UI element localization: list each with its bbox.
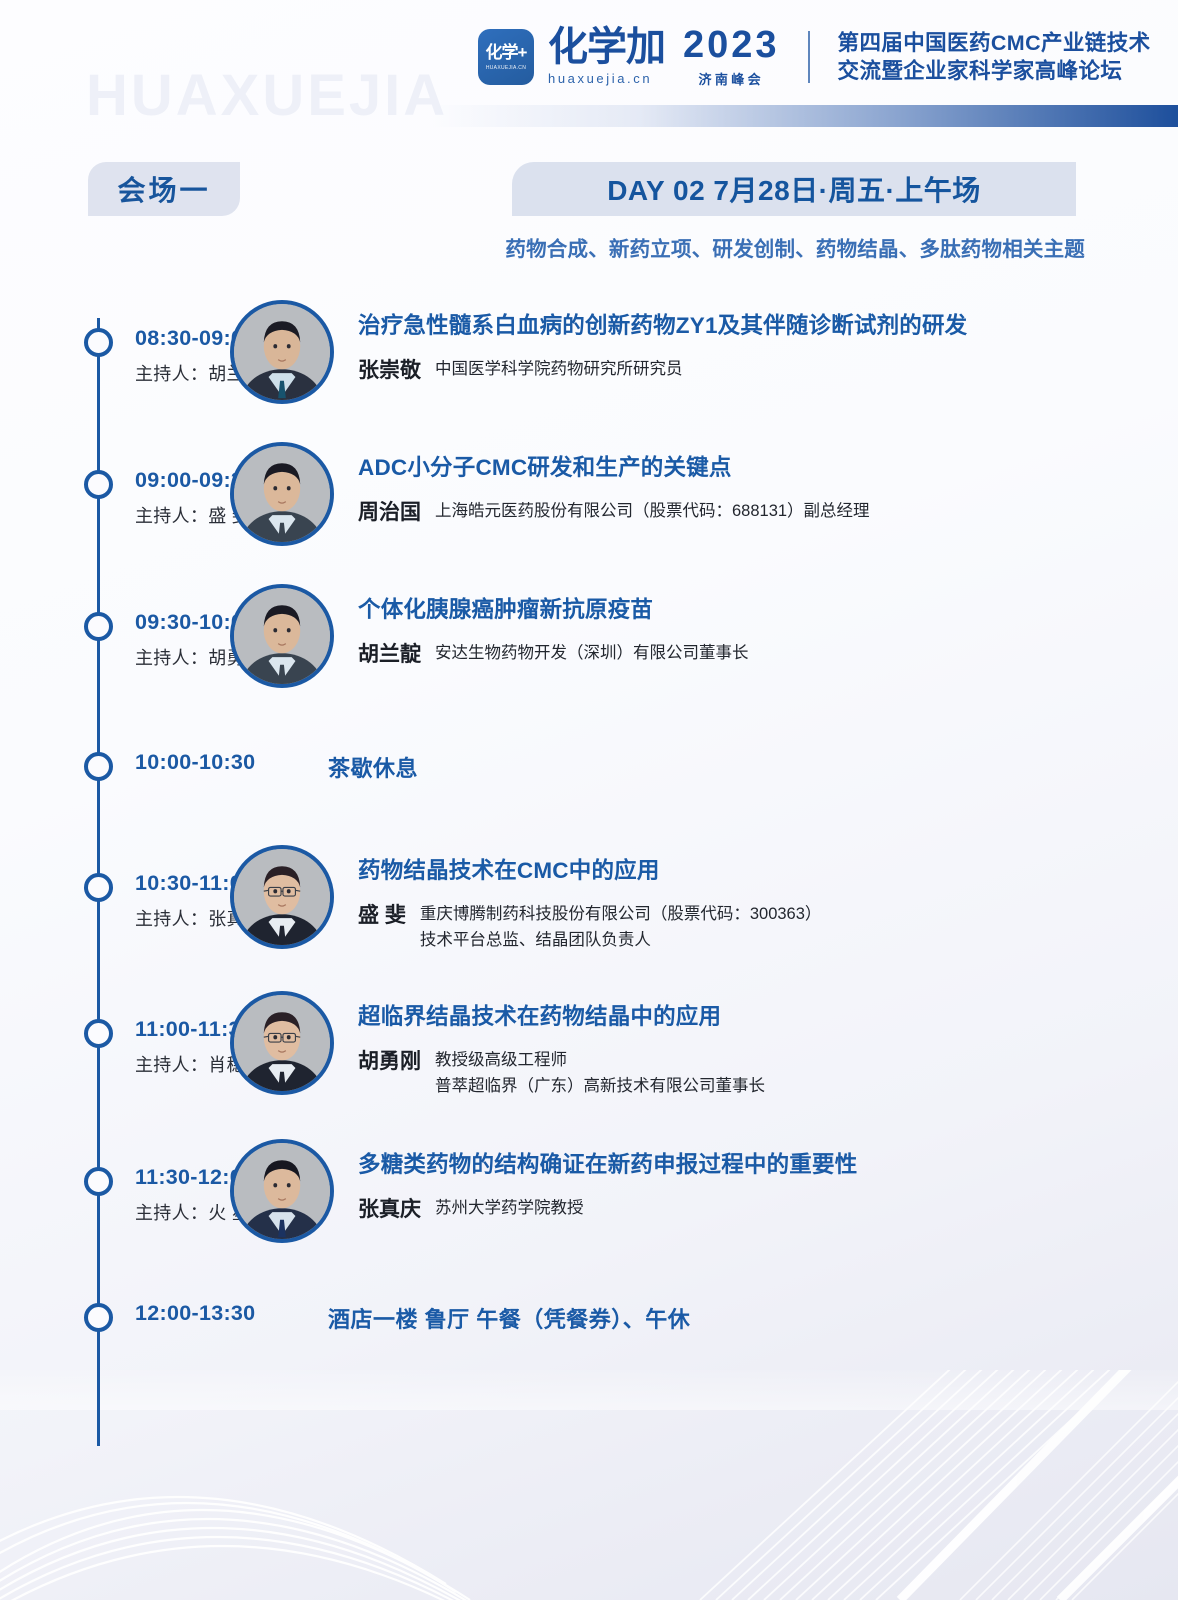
- conference-title-line1: 第四届中国医药CMC产业链技术: [838, 29, 1151, 57]
- session-time: 12:00-13:30: [135, 1301, 230, 1326]
- background-decoration: [0, 1370, 1178, 1600]
- schedule-session-row: 11:30-12:00主持人：火 星 多糖类药物的结构确证在新药申报过程中的重要…: [0, 1139, 1178, 1243]
- speaker-line: 胡兰靛安达生物药物开发（深圳）有限公司董事长: [358, 638, 749, 668]
- session-time: 09:00-09:30: [135, 468, 230, 493]
- venue-tag-label: 会场一: [117, 169, 210, 209]
- speaker-affiliation-line: 重庆博腾制药科技股份有限公司（股票代码：300363）: [420, 902, 822, 928]
- speaker-affiliation-line: 普萃超临界（广东）高新技术有限公司董事长: [435, 1074, 765, 1100]
- speaker-affiliation-line: 安达生物药物开发（深圳）有限公司董事长: [435, 641, 749, 667]
- schedule-session-row: 11:00-11:30主持人：肖稳定 超临界结晶技术在药物结晶中的应用胡勇刚教授…: [0, 991, 1178, 1099]
- break-label: 酒店一楼 鲁厅 午餐（凭餐券）、午休: [230, 1301, 690, 1334]
- session-time-column: 11:00-11:30主持人：肖稳定: [0, 991, 230, 1077]
- speaker-avatar: [230, 991, 334, 1095]
- header-gradient-bar: [430, 105, 1178, 127]
- talk-block: ADC小分子CMC研发和生产的关键点周治国上海皓元医药股份有限公司（股票代码：6…: [334, 442, 870, 526]
- session-time: 10:00-10:30: [135, 750, 230, 775]
- talk-title: 超临界结晶技术在药物结晶中的应用: [358, 999, 765, 1031]
- schedule-break-row: 10:00-10:30茶歇休息: [0, 750, 1178, 783]
- speaker-name: 张真庆: [358, 1193, 421, 1223]
- timeline-dot-icon: [84, 1019, 113, 1048]
- break-label: 茶歇休息: [230, 750, 418, 783]
- session-time-column: 10:00-10:30: [0, 750, 230, 775]
- timeline-dot-icon: [84, 470, 113, 499]
- talk-title: 治疗急性髓系白血病的创新药物ZY1及其伴随诊断试剂的研发: [358, 308, 967, 340]
- speaker-name: 张崇敬: [358, 354, 421, 384]
- session-host: 主持人：张真庆: [135, 905, 230, 931]
- conference-title: 第四届中国医药CMC产业链技术 交流暨企业家科学家高峰论坛: [838, 29, 1151, 86]
- year-number: 2023: [683, 26, 780, 64]
- speaker-name: 盛 斐: [358, 899, 406, 929]
- brand-name-cn: 化学加: [548, 28, 665, 67]
- talk-title: 个体化胰腺癌肿瘤新抗原疫苗: [358, 592, 749, 624]
- schedule-session-row: 09:30-10:00主持人：胡勇刚 个体化胰腺癌肿瘤新抗原疫苗胡兰靛安达生物药…: [0, 584, 1178, 688]
- speaker-avatar: [230, 442, 334, 546]
- speaker-affiliation: 中国医学科学院药物研究所研究员: [435, 354, 683, 383]
- brand-block: 化学加 huaxuejia.cn: [548, 28, 665, 85]
- talk-title: 多糖类药物的结构确证在新药申报过程中的重要性: [358, 1147, 857, 1179]
- conference-title-line2: 交流暨企业家科学家高峰论坛: [838, 57, 1151, 85]
- session-time-column: 10:30-11:00主持人：张真庆: [0, 845, 230, 931]
- talk-title: 药物结晶技术在CMC中的应用: [358, 853, 821, 885]
- header-divider: [808, 31, 810, 83]
- talk-block: 个体化胰腺癌肿瘤新抗原疫苗胡兰靛安达生物药物开发（深圳）有限公司董事长: [334, 584, 749, 668]
- speaker-avatar: [230, 584, 334, 688]
- speaker-affiliation-line: 教授级高级工程师: [435, 1048, 765, 1074]
- speaker-affiliation: 安达生物药物开发（深圳）有限公司董事长: [435, 638, 749, 667]
- day-banner-label: DAY 02 7月28日·周五·上午场: [607, 169, 981, 209]
- timeline-dot-icon: [84, 612, 113, 641]
- schedule-session-row: 08:30-09:00主持人：胡兰靛 治疗急性髓系白血病的创新药物ZY1及其伴随…: [0, 300, 1178, 404]
- schedule-session-row: 10:30-11:00主持人：张真庆 药物结晶技术在CMC中的应用盛 斐重庆博腾…: [0, 845, 1178, 953]
- speaker-affiliation: 重庆博腾制药科技股份有限公司（股票代码：300363）技术平台总监、结晶团队负责…: [420, 899, 822, 953]
- talk-block: 治疗急性髓系白血病的创新药物ZY1及其伴随诊断试剂的研发张崇敬中国医学科学院药物…: [334, 300, 967, 384]
- speaker-affiliation: 教授级高级工程师普萃超临界（广东）高新技术有限公司董事长: [435, 1045, 765, 1099]
- session-host: 主持人：盛 斐: [135, 502, 230, 528]
- huaxuejia-logo-icon: 化学+ HUAXUEJIA.CN: [478, 29, 534, 85]
- schedule-session-row: 09:00-09:30主持人：盛 斐 ADC小分子CMC研发和生产的关键点周治国…: [0, 442, 1178, 546]
- speaker-name: 胡勇刚: [358, 1045, 421, 1075]
- day-subtitle: 药物合成、新药立项、研发创制、药物结晶、多肽药物相关主题: [0, 232, 1085, 262]
- talk-block: 药物结晶技术在CMC中的应用盛 斐重庆博腾制药科技股份有限公司（股票代码：300…: [334, 845, 821, 953]
- day-banner: DAY 02 7月28日·周五·上午场: [512, 162, 1076, 216]
- speaker-avatar: [230, 1139, 334, 1243]
- speaker-line: 张真庆苏州大学药学院教授: [358, 1193, 857, 1223]
- logo-sub: HUAXUEJIA.CN: [486, 65, 526, 71]
- venue-tag: 会场一: [88, 162, 240, 216]
- session-time: 09:30-10:00: [135, 610, 230, 635]
- speaker-name: 周治国: [358, 496, 421, 526]
- talk-block: 超临界结晶技术在药物结晶中的应用胡勇刚教授级高级工程师普萃超临界（广东）高新技术…: [334, 991, 765, 1099]
- session-host: 主持人：胡勇刚: [135, 644, 230, 670]
- speaker-affiliation-line: 苏州大学药学院教授: [435, 1196, 584, 1222]
- page-header: 化学+ HUAXUEJIA.CN 化学加 huaxuejia.cn 2023 济…: [0, 0, 1178, 135]
- talk-block: 多糖类药物的结构确证在新药申报过程中的重要性张真庆苏州大学药学院教授: [334, 1139, 857, 1223]
- session-time: 10:30-11:00: [135, 871, 230, 896]
- timeline-dot-icon: [84, 752, 113, 781]
- timeline-dot-icon: [84, 1303, 113, 1332]
- year-subtitle: 济南峰会: [683, 69, 780, 88]
- session-host: 主持人：胡兰靛: [135, 360, 230, 386]
- session-time-column: 08:30-09:00主持人：胡兰靛: [0, 300, 230, 386]
- session-time: 08:30-09:00: [135, 326, 230, 351]
- session-time: 11:00-11:30: [135, 1017, 230, 1042]
- schedule-break-row: 12:00-13:30酒店一楼 鲁厅 午餐（凭餐券）、午休: [0, 1301, 1178, 1334]
- session-time: 11:30-12:00: [135, 1165, 230, 1190]
- speaker-avatar: [230, 845, 334, 949]
- speaker-affiliation-line: 上海皓元医药股份有限公司（股票代码：688131）副总经理: [435, 499, 870, 525]
- session-time-column: 11:30-12:00主持人：火 星: [0, 1139, 230, 1225]
- schedule-list: 08:30-09:00主持人：胡兰靛 治疗急性髓系白血病的创新药物ZY1及其伴随…: [0, 300, 1178, 1334]
- speaker-line: 张崇敬中国医学科学院药物研究所研究员: [358, 354, 967, 384]
- session-time-column: 12:00-13:30: [0, 1301, 230, 1326]
- timeline-dot-icon: [84, 328, 113, 357]
- session-host: 主持人：火 星: [135, 1199, 230, 1225]
- brand-url: huaxuejia.cn: [548, 71, 665, 86]
- speaker-affiliation-line: 中国医学科学院药物研究所研究员: [435, 357, 683, 383]
- speaker-line: 盛 斐重庆博腾制药科技股份有限公司（股票代码：300363）技术平台总监、结晶团…: [358, 899, 821, 953]
- logo-glyph: 化学+: [486, 44, 527, 61]
- speaker-line: 周治国上海皓元医药股份有限公司（股票代码：688131）副总经理: [358, 496, 870, 526]
- speaker-line: 胡勇刚教授级高级工程师普萃超临界（广东）高新技术有限公司董事长: [358, 1045, 765, 1099]
- timeline-dot-icon: [84, 873, 113, 902]
- session-host: 主持人：肖稳定: [135, 1051, 230, 1077]
- talk-title: ADC小分子CMC研发和生产的关键点: [358, 450, 870, 482]
- speaker-avatar: [230, 300, 334, 404]
- speaker-affiliation: 上海皓元医药股份有限公司（股票代码：688131）副总经理: [435, 496, 870, 525]
- year-block: 2023 济南峰会: [683, 26, 780, 88]
- speaker-name: 胡兰靛: [358, 638, 421, 668]
- session-time-column: 09:00-09:30主持人：盛 斐: [0, 442, 230, 528]
- speaker-affiliation: 苏州大学药学院教授: [435, 1193, 584, 1222]
- session-time-column: 09:30-10:00主持人：胡勇刚: [0, 584, 230, 670]
- speaker-affiliation-line: 技术平台总监、结晶团队负责人: [420, 928, 822, 954]
